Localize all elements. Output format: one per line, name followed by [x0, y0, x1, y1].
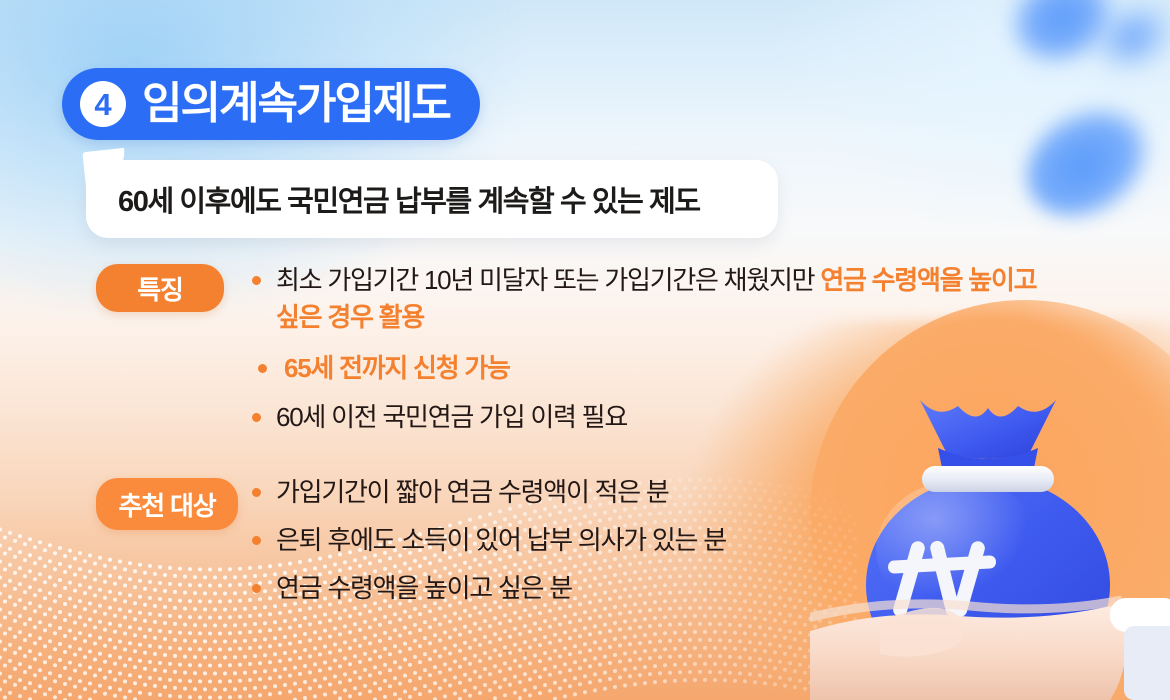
subtitle-bubble: 60세 이후에도 국민연금 납부를 계속할 수 있는 제도	[86, 160, 778, 238]
audience-section: 추천 대상 가입기간이 짧아 연금 수령액이 적은 분 은퇴 후에도 소득이 있…	[96, 478, 1042, 618]
circled-number-four-icon: 4	[80, 81, 126, 127]
list-item: 최소 가입기간 10년 미달자 또는 가입기간은 채웠지만 연금 수령액을 높이…	[252, 262, 1042, 336]
white-wash-top-right	[770, 0, 1170, 240]
list-item: 은퇴 후에도 소득이 있어 납부 의사가 있는 분	[252, 522, 1042, 559]
page-title: 임의계속가입제도	[142, 82, 450, 126]
badge-features: 특징	[96, 264, 224, 312]
audience-bullet-list: 가입기간이 짧아 연금 수령액이 적은 분 은퇴 후에도 소득이 있어 납부 의…	[252, 474, 1042, 618]
list-item: 연금 수령액을 높이고 싶은 분	[252, 570, 1042, 607]
badge-audience: 추천 대상	[96, 478, 238, 530]
blue-blob-icon	[1004, 83, 1170, 241]
list-item: 65세 전까지 신청 가능	[252, 350, 1042, 387]
subtitle-text: 60세 이후에도 국민연금 납부를 계속할 수 있는 제도	[86, 178, 700, 220]
list-item: 가입기간이 짧아 연금 수령액이 적은 분	[252, 474, 1042, 511]
bullet-text-plain: 최소 가입기간 10년 미달자 또는 가입기간은 채웠지만	[276, 265, 820, 295]
blue-blob-icon	[994, 0, 1131, 82]
section-title-badge: 4 임의계속가입제도	[62, 68, 480, 140]
infographic-canvas: 4 임의계속가입제도 60세 이후에도 국민연금 납부를 계속할 수 있는 제도…	[0, 0, 1170, 700]
features-bullet-list: 최소 가입기간 10년 미달자 또는 가입기간은 채웠지만 연금 수령액을 높이…	[252, 262, 1042, 448]
features-section: 특징 최소 가입기간 10년 미달자 또는 가입기간은 채웠지만 연금 수령액을…	[96, 264, 1042, 448]
list-item: 60세 이전 국민연금 가입 이력 필요	[252, 399, 1042, 436]
blue-blob-icon	[1077, 0, 1170, 88]
